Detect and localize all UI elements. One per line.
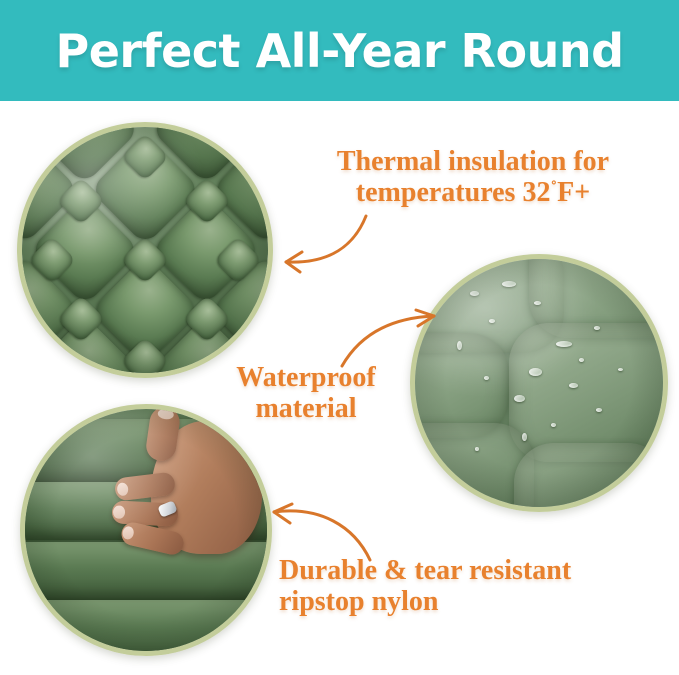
photo-circle-waterproof (410, 254, 668, 512)
caption-thermal-temp: temperatures 32 (356, 177, 551, 208)
fabric-puff (514, 443, 663, 507)
durable-photo (25, 409, 267, 651)
photo-circle-durable (20, 404, 272, 656)
page-title: Perfect All-Year Round (0, 0, 679, 101)
caption-waterproof: Waterproof material (196, 362, 416, 425)
water-droplet (579, 358, 584, 362)
caption-thermal: Thermal insulation for temperatures 32˚F… (283, 146, 663, 209)
fingernail (116, 482, 128, 496)
caption-durable-line2: ripstop nylon (279, 586, 671, 617)
fingernail (122, 525, 135, 540)
caption-durable-line1: Durable & tear resistant (279, 555, 671, 586)
fabric-puff (415, 333, 509, 437)
caption-waterproof-line1: Waterproof (196, 362, 416, 393)
water-droplet (470, 291, 479, 296)
photo-circle-thermal (17, 122, 273, 378)
caption-durable: Durable & tear resistant ripstop nylon (279, 555, 671, 618)
waterproof-photo (415, 259, 663, 507)
caption-waterproof-line2: material (196, 393, 416, 424)
fingernail (113, 505, 125, 519)
fingernail (157, 409, 175, 420)
fabric-puff (509, 323, 663, 462)
infographic-page: Perfect All-Year Round (0, 0, 679, 675)
water-droplet (594, 326, 600, 330)
water-droplet (489, 319, 495, 323)
caption-thermal-unit: F+ (557, 177, 590, 208)
header-banner: Perfect All-Year Round (0, 0, 679, 101)
pad-chamber (25, 600, 267, 651)
water-droplet (596, 408, 602, 412)
arrow-thermal-icon (268, 212, 378, 284)
water-droplet (484, 376, 489, 380)
water-droplet (556, 341, 572, 347)
caption-thermal-line2: temperatures 32˚F+ (283, 177, 663, 208)
caption-thermal-line1: Thermal insulation for (283, 146, 663, 177)
water-droplet (522, 433, 527, 441)
thermal-photo (22, 127, 268, 373)
hand-graphic (112, 414, 262, 593)
water-droplet (569, 383, 578, 388)
